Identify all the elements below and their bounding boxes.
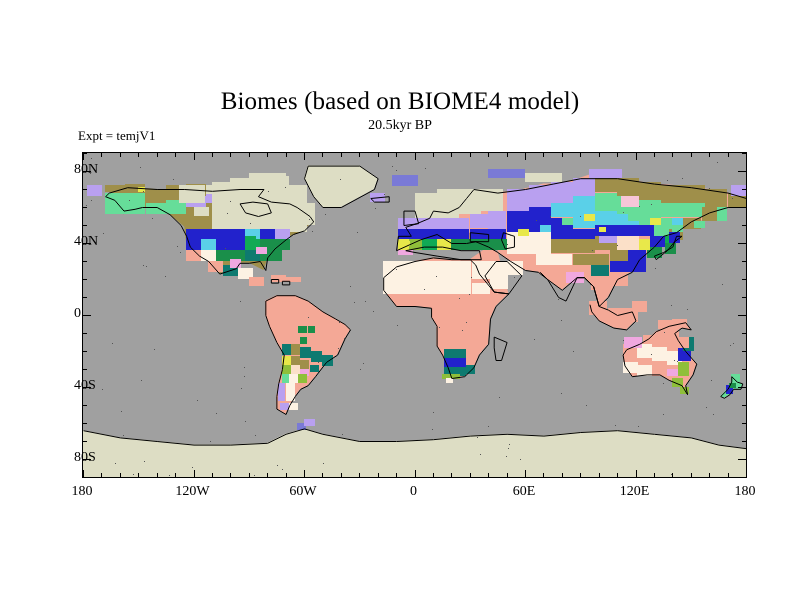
axis-tick [341,153,342,157]
axis-tick [396,153,397,157]
axis-tick [543,153,544,157]
axis-tick [359,153,360,157]
axis-tick [746,153,747,160]
axis-tick [194,153,195,160]
map-plot-frame [82,152,747,478]
axis-tick [738,387,746,388]
axis-tick [175,473,176,477]
axis-tick [742,369,746,370]
axis-tick [470,153,471,157]
axis-tick [636,470,637,477]
axis-tick [617,153,618,157]
y-axis-tick-label: 80N [74,162,98,178]
axis-tick [742,333,746,334]
axis-tick [525,470,526,477]
axis-tick [83,315,91,316]
axis-tick [617,473,618,477]
axis-tick [742,207,746,208]
axis-tick [738,315,746,316]
axis-tick [286,153,287,157]
axis-tick [83,225,87,226]
axis-tick [451,153,452,157]
axis-tick [83,297,87,298]
axis-tick [525,153,526,160]
axis-tick [562,473,563,477]
axis-tick [249,153,250,157]
axis-tick [83,333,87,334]
axis-tick [742,153,746,154]
axis-tick [728,473,729,477]
axis-tick [599,153,600,157]
axis-tick [691,153,692,157]
axis-tick [742,351,746,352]
axis-tick [742,405,746,406]
y-axis-tick-label: 40S [74,378,96,394]
axis-tick [654,473,655,477]
axis-tick [709,473,710,477]
axis-tick [83,261,87,262]
axis-tick [230,153,231,157]
axis-tick [83,279,87,280]
axis-tick [267,473,268,477]
x-axis-tick-label: 120W [175,484,209,500]
experiment-label: Expt = temjV1 [78,128,155,144]
axis-tick [83,441,87,442]
axis-tick [83,153,84,160]
axis-tick [378,153,379,157]
axis-tick [415,153,416,160]
axis-tick [138,473,139,477]
axis-tick [83,470,84,477]
axis-tick [451,473,452,477]
axis-tick [249,473,250,477]
axis-tick [709,153,710,157]
axis-tick [742,189,746,190]
axis-tick [580,473,581,477]
x-axis-tick-label: 180 [72,484,93,500]
axis-tick [507,153,508,157]
axis-tick [738,243,746,244]
axis-tick [562,153,563,157]
axis-tick [746,470,747,477]
axis-tick [120,153,121,157]
axis-tick [157,473,158,477]
axis-tick [654,153,655,157]
axis-tick [322,153,323,157]
axis-tick [507,473,508,477]
axis-tick [488,473,489,477]
axis-tick [286,473,287,477]
figure-root: Biomes (based on BIOME4 model) 20.5kyr B… [0,0,800,600]
axis-tick [470,473,471,477]
axis-tick [415,470,416,477]
axis-tick [433,153,434,157]
axis-tick [83,189,87,190]
axis-tick [742,423,746,424]
x-axis-tick-label: 60W [289,484,316,500]
axis-tick [599,473,600,477]
y-axis-tick-label: 80S [74,450,96,466]
axis-tick [175,153,176,157]
x-axis-tick-label: 60E [513,484,536,500]
axis-tick [738,171,746,172]
axis-tick [83,153,87,154]
x-axis-tick-label: 120E [620,484,650,500]
axis-tick [157,153,158,157]
axis-tick [83,351,87,352]
axis-tick [304,470,305,477]
axis-tick [101,473,102,477]
axis-tick [83,369,87,370]
axis-tick [691,473,692,477]
x-axis-tick-label: 0 [410,484,417,500]
axis-tick [322,473,323,477]
axis-tick [359,473,360,477]
axis-tick [83,477,87,478]
axis-tick [742,225,746,226]
axis-tick [672,473,673,477]
axis-tick [742,297,746,298]
axis-tick [433,473,434,477]
axis-tick [267,153,268,157]
axis-tick [543,473,544,477]
axis-tick [580,153,581,157]
axis-tick [742,441,746,442]
axis-tick [83,405,87,406]
axis-tick [304,153,305,160]
axis-tick [230,473,231,477]
y-axis-tick-label: 0 [74,306,81,322]
axis-tick [396,473,397,477]
axis-tick [742,261,746,262]
axis-tick [120,473,121,477]
axis-tick [742,279,746,280]
axis-tick [672,153,673,157]
axis-tick [636,153,637,160]
page-title: Biomes (based on BIOME4 model) [0,88,800,116]
axis-tick [83,423,87,424]
axis-tick [138,153,139,157]
axis-tick [728,153,729,157]
axis-tick [212,153,213,157]
biome-map-canvas [83,153,746,477]
x-axis-tick-label: 180 [735,484,756,500]
axis-tick [378,473,379,477]
axis-tick [212,473,213,477]
axis-tick [742,477,746,478]
axis-tick [194,470,195,477]
axis-tick [341,473,342,477]
axis-tick [738,459,746,460]
axis-tick [488,153,489,157]
y-axis-tick-label: 40N [74,234,98,250]
axis-tick [101,153,102,157]
axis-tick [83,207,87,208]
